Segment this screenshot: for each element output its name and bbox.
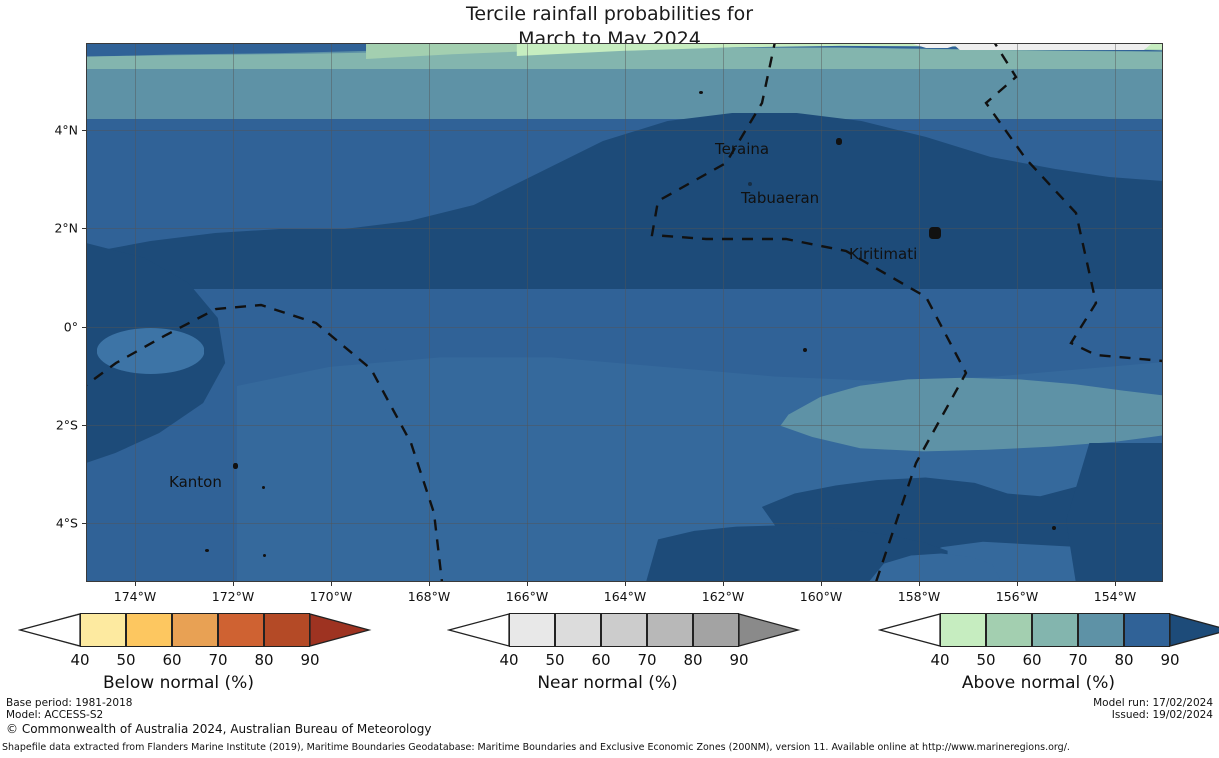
colorbar-arrow-left (878, 613, 942, 647)
issued-text: Issued: 19/02/2024 (1112, 709, 1213, 721)
model-text: Model: ACCESS-S2 (6, 709, 103, 721)
x-tickmark (527, 582, 528, 586)
colorbar-segment (601, 613, 647, 647)
island-small-marker-6 (748, 182, 752, 186)
map-label-kiritimati: Kiritimati (849, 245, 917, 263)
colorbar-segment (80, 613, 126, 647)
colorbar-arrow-left-outline (18, 613, 82, 647)
y-tickmark (82, 523, 86, 524)
y-tick-label: 4°N (54, 123, 78, 138)
island-small-marker-1 (262, 486, 265, 489)
colorbar-title: Above normal (%) (866, 673, 1211, 693)
colorbar-tick-label: 40 (930, 651, 949, 669)
colorbar-tick-label: 80 (683, 651, 702, 669)
island-kanton-marker (233, 463, 238, 469)
y-tick-label: 2°N (54, 221, 78, 236)
island-tabuaeran-marker (836, 138, 842, 145)
eez-line-kiritimati-north (652, 43, 966, 582)
y-tick-label: 2°S (56, 418, 78, 433)
colorbar-tick-label: 90 (1160, 651, 1179, 669)
colorbar-tick-label: 50 (976, 651, 995, 669)
x-tick-label: 156°W (996, 589, 1038, 604)
island-small-marker-2 (803, 348, 807, 352)
colorbar-segment (218, 613, 264, 647)
colorbar-tick-label: 90 (729, 651, 748, 669)
colorbar-tick-label: 50 (116, 651, 135, 669)
colorbar-tick-label: 80 (254, 651, 273, 669)
x-tickmark (1115, 582, 1116, 586)
colorbar-arrow-right (738, 613, 802, 647)
colorbar-segment (555, 613, 601, 647)
colorbar-tick-label: 80 (1114, 651, 1133, 669)
colorbar-segment (126, 613, 172, 647)
copyright-text: © Commonwealth of Australia 2024, Austra… (6, 722, 431, 736)
map-plot[interactable]: Teraina Tabuaeran Kiritimati Kanton (86, 43, 1163, 582)
x-tick-label: 168°W (408, 589, 450, 604)
island-small-marker-5 (1052, 526, 1056, 530)
colorbar-arrow-right (1169, 613, 1219, 647)
x-tick-label: 170°W (310, 589, 352, 604)
y-tickmark (82, 228, 86, 229)
x-tick-label: 158°W (898, 589, 940, 604)
colorbar-segment (172, 613, 218, 647)
colorbar-above-normal[interactable]: 40 50 60 70 80 90 Above normal (%) (866, 613, 1211, 647)
colorbar-title: Below normal (%) (6, 673, 351, 693)
map-label-tabuaeran: Tabuaeran (741, 189, 819, 207)
colorbar-tick-label: 60 (162, 651, 181, 669)
colorbar-segment (1124, 613, 1170, 647)
model-run-text: Model run: 17/02/2024 (1093, 697, 1213, 709)
title-line-1: Tercile rainfall probabilities for (0, 2, 1219, 27)
y-tick-label: 0° (64, 320, 78, 335)
colorbar-arrow-right (309, 613, 373, 647)
colorbar-segment (264, 613, 310, 647)
x-tickmark (723, 582, 724, 586)
colorbar-segment (509, 613, 555, 647)
eez-line-phoenix (86, 305, 442, 582)
colorbar-tick-label: 50 (545, 651, 564, 669)
x-tick-label: 162°W (702, 589, 744, 604)
y-tickmark (82, 425, 86, 426)
x-tick-label: 160°W (800, 589, 842, 604)
x-tick-label: 174°W (114, 589, 156, 604)
colorbar-segment (693, 613, 739, 647)
shapefile-attribution-text: Shapefile data extracted from Flanders M… (2, 742, 1070, 753)
colorbar-arrow-left (447, 613, 511, 647)
x-tickmark (233, 582, 234, 586)
colorbar-segment (1078, 613, 1124, 647)
colorbar-near-normal[interactable]: 40 50 60 70 80 90 Near normal (%) (435, 613, 780, 647)
island-kiritimati-marker (929, 227, 941, 239)
x-tickmark (919, 582, 920, 586)
map-label-teraina: Teraina (715, 140, 769, 158)
colorbar-tick-label: 70 (208, 651, 227, 669)
y-tickmark (82, 327, 86, 328)
colorbar-tick-label: 60 (1022, 651, 1041, 669)
x-tickmark (625, 582, 626, 586)
colorbar-segment (986, 613, 1032, 647)
x-tick-label: 154°W (1094, 589, 1136, 604)
colorbar-tick-label: 40 (70, 651, 89, 669)
colorbar-tick-label: 70 (637, 651, 656, 669)
eez-line-northeast (986, 43, 1163, 361)
colorbar-segment (647, 613, 693, 647)
y-tick-label: 4°S (56, 516, 78, 531)
colorbar-segment (940, 613, 986, 647)
colorbar-below-normal[interactable]: 40 50 60 70 80 90 Below normal (%) (6, 613, 351, 647)
x-tickmark (429, 582, 430, 586)
x-tick-label: 172°W (212, 589, 254, 604)
island-teraina-marker (699, 91, 703, 94)
eez-boundary-layer (86, 43, 1163, 582)
colorbar-tick-label: 40 (499, 651, 518, 669)
x-tick-label: 166°W (506, 589, 548, 604)
colorbar-title: Near normal (%) (435, 673, 780, 693)
x-tick-label: 164°W (604, 589, 646, 604)
x-tickmark (1017, 582, 1018, 586)
x-tickmark (821, 582, 822, 586)
colorbar-segment (1032, 613, 1078, 647)
x-tickmark (331, 582, 332, 586)
island-small-marker-4 (263, 554, 266, 557)
colorbar-tick-label: 60 (591, 651, 610, 669)
map-label-kanton: Kanton (169, 473, 222, 491)
island-small-marker-3 (205, 549, 209, 552)
y-tickmark (82, 130, 86, 131)
base-period-text: Base period: 1981-2018 (6, 697, 132, 709)
colorbar-tick-label: 70 (1068, 651, 1087, 669)
colorbar-tick-label: 90 (300, 651, 319, 669)
x-tickmark (135, 582, 136, 586)
